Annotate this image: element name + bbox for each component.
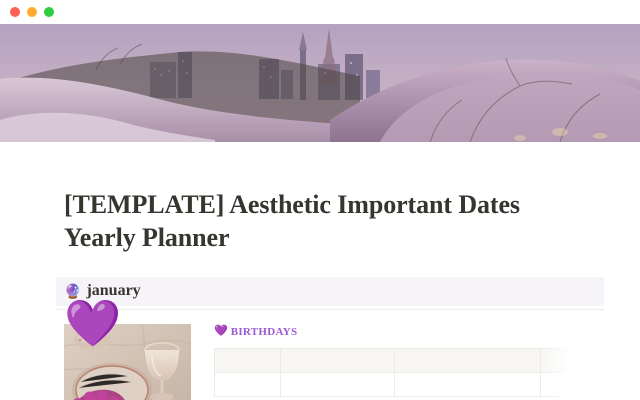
purple-heart-icon: 💜	[214, 326, 228, 337]
birthdays-title: 💜 BIRTHDAYS	[214, 326, 600, 338]
table-row[interactable]	[215, 372, 575, 396]
minimize-button[interactable]	[27, 7, 37, 17]
table-header-row[interactable]	[215, 348, 575, 372]
crystal-ball-icon: 🔮	[64, 284, 81, 298]
table-header-cell[interactable]	[215, 348, 281, 372]
birthdays-table[interactable]	[214, 348, 574, 397]
cover-image[interactable]	[0, 24, 640, 142]
table-cell[interactable]	[215, 372, 281, 396]
birthdays-table-scroll[interactable]	[214, 348, 574, 397]
birthdays-label: BIRTHDAYS	[231, 326, 298, 338]
section-heading-january[interactable]: 🔮 january	[56, 277, 604, 306]
page-title[interactable]: [TEMPLATE] Aesthetic Important Dates Yea…	[64, 188, 544, 255]
page-content: 💜 [TEMPLATE] Aesthetic Important Dates Y…	[0, 188, 640, 400]
table-cell[interactable]	[541, 372, 575, 396]
section-divider	[56, 309, 604, 310]
maximize-button[interactable]	[44, 7, 54, 17]
cover-illustration	[0, 24, 640, 142]
table-header-cell[interactable]	[395, 348, 541, 372]
close-button[interactable]	[10, 7, 20, 17]
content-columns: 💜 BIRTHDAYS	[64, 324, 600, 400]
window-titlebar	[0, 0, 640, 24]
table-cell[interactable]	[281, 372, 395, 396]
table-column: 💜 BIRTHDAYS	[194, 324, 600, 397]
table-header-cell[interactable]	[281, 348, 395, 372]
table-header-cell[interactable]	[541, 348, 575, 372]
purple-heart-icon[interactable]: 💜	[64, 300, 121, 346]
table-cell[interactable]	[395, 372, 541, 396]
